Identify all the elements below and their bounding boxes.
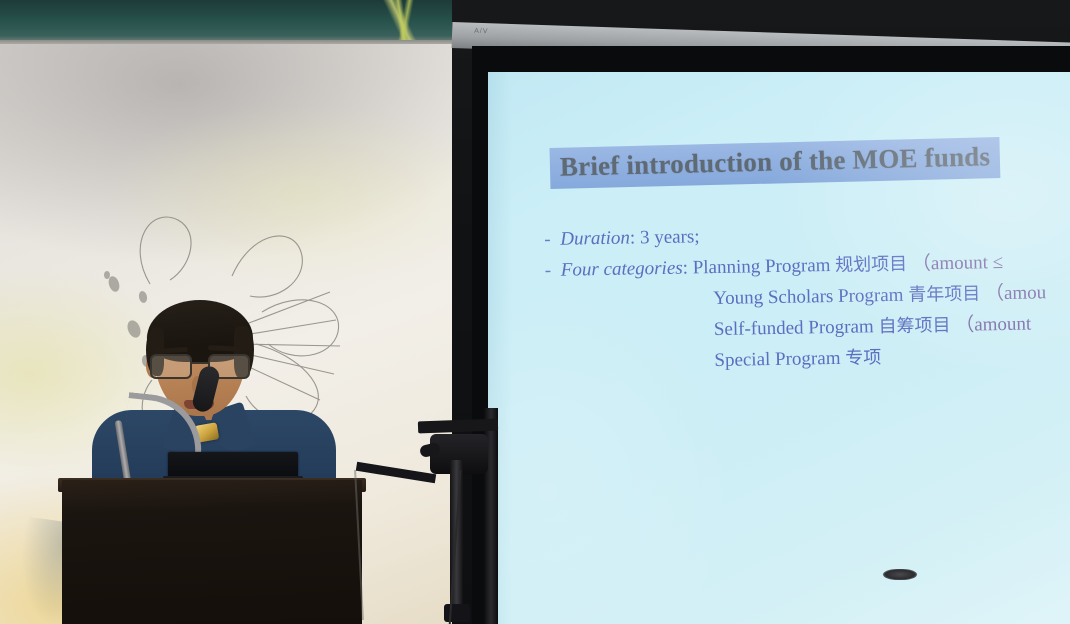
bullet-separator-categories: :	[683, 257, 689, 278]
slide-title: Brief introduction of the MOE funds	[549, 137, 1000, 189]
camera-tripod	[396, 408, 516, 624]
category-note-1: （amou	[985, 282, 1047, 304]
category-note-0: （amount ≤	[912, 252, 1004, 275]
category-indent-2	[546, 335, 714, 338]
bullet-dash: -	[544, 224, 561, 255]
category-name-zh-2: 自筹项目	[878, 315, 950, 337]
category-name-zh-1: 青年项目	[908, 283, 980, 305]
slide-title-container: Brief introduction of the MOE funds	[549, 137, 1000, 189]
bullet-separator-duration: :	[630, 227, 636, 248]
bullet-value-duration: 3 years;	[640, 226, 700, 248]
lens-left	[150, 354, 192, 379]
presenter-laptop	[168, 452, 298, 478]
category-indent-3	[547, 366, 715, 369]
tripod-collar	[444, 604, 470, 622]
category-name-en-2: Self-funded Program	[714, 316, 874, 340]
category-name-en-3: Special Program	[714, 348, 840, 371]
small-object-on-floor	[883, 569, 917, 580]
bullet-label-categories: Four categories	[561, 258, 683, 281]
rail-label: A/V	[474, 28, 489, 35]
bullet-label-duration: Duration	[560, 228, 630, 250]
category-indent-1	[545, 304, 713, 307]
category-name-en-0: Planning Program	[693, 255, 831, 278]
category-note-2: （amount	[955, 314, 1031, 336]
slide-body: -Duration: 3 years; -Four categories: Pl…	[544, 214, 1070, 379]
category-name-zh-0: 规划项目	[835, 254, 907, 276]
lectern	[62, 480, 362, 624]
category-name-zh-3: 专项	[845, 347, 881, 369]
glasses-bridge	[192, 362, 208, 364]
projection-screen: Brief introduction of the MOE funds -Dur…	[488, 72, 1070, 624]
bullet-dash-2: -	[545, 255, 562, 286]
category-name-en-1: Young Scholars Program	[713, 285, 904, 309]
presentation-photo: A/V Brief introduction of the MOE funds …	[0, 0, 1070, 624]
